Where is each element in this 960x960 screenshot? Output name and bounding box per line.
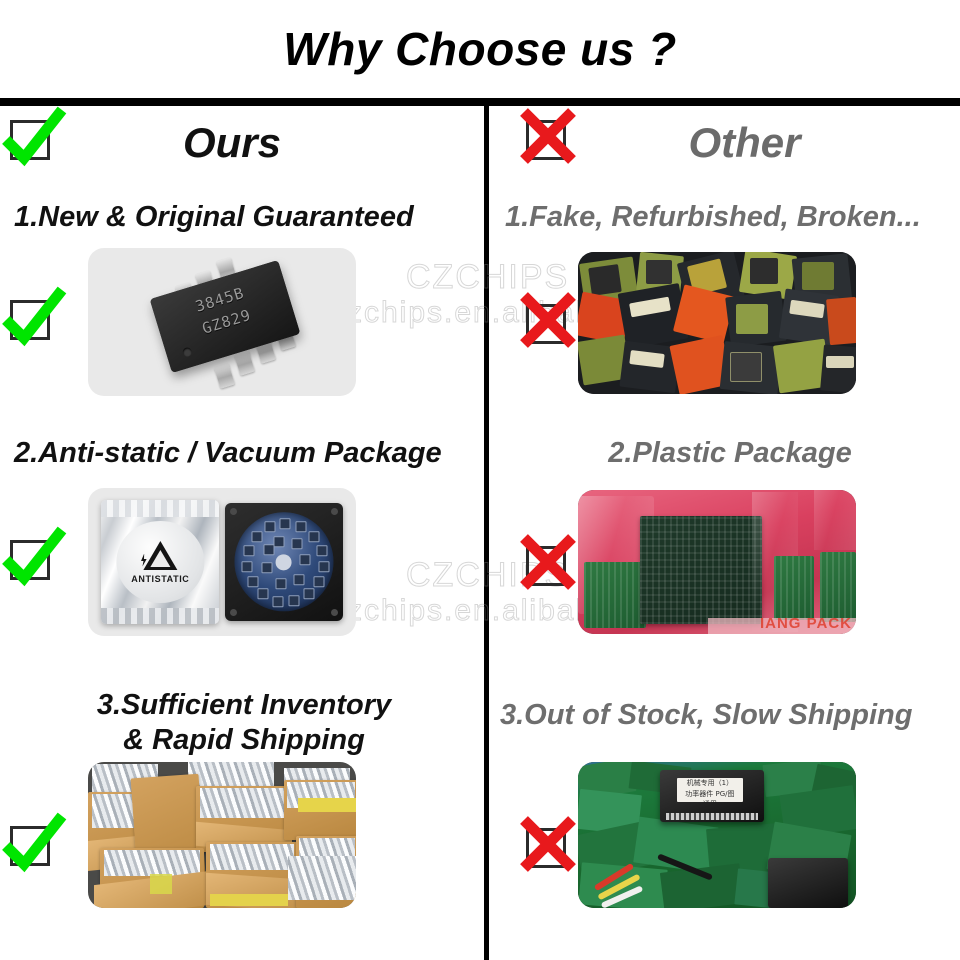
scrap-label [826, 356, 854, 368]
cross-icon [520, 112, 574, 166]
new-chip-photo: 3845B GZ829 [88, 248, 356, 396]
cross-glyph [514, 102, 584, 172]
warning-triangle [143, 540, 177, 569]
module-label-line3: 通用 [677, 799, 744, 802]
reel-cell [316, 545, 327, 556]
reel-cell [303, 588, 314, 599]
inventory-boxes-photo [88, 762, 356, 908]
scrap-chip-die [750, 258, 778, 284]
tray-screw [230, 508, 237, 515]
antistatic-bag: ANTISTATIC [101, 500, 219, 624]
scrap-chip-die [588, 264, 622, 296]
scrap-piece [820, 344, 856, 393]
pcb-board [584, 562, 646, 628]
chip-tray [225, 503, 343, 621]
pcb-board [774, 556, 814, 620]
chip-illustration: 3845B GZ829 [88, 248, 356, 396]
cross-icon [520, 296, 574, 350]
reel-hub [276, 554, 292, 570]
antistatic-bag-label: ANTISTATIC [131, 573, 189, 583]
reel-cell [262, 562, 273, 573]
reel-cell [318, 561, 329, 572]
why-choose-us-infographic: Why Choose us ? CZCHIPS czchips.en.aliba… [0, 0, 960, 960]
black-module-secondary [768, 858, 848, 908]
plastic-pack-overlay-text: IANG PACK [760, 615, 852, 632]
reel-cell [274, 536, 285, 547]
tray-screw [230, 609, 237, 616]
scrap-chip-die [730, 352, 762, 382]
module-label-line2: 功率器件 PG/图 [677, 789, 744, 800]
yellow-tape [210, 894, 288, 906]
feature-label-other-1: 1.Fake, Refurbished, Broken... [505, 202, 955, 233]
pcb-board-large [640, 516, 762, 624]
chip-pin [214, 363, 235, 388]
module-pins [666, 813, 758, 820]
yellow-tape [298, 798, 356, 812]
check-glyph [0, 102, 68, 172]
antistatic-bags [210, 844, 294, 870]
reel-cell [294, 574, 305, 585]
feature-label-other-2: 2.Plastic Package [505, 438, 955, 469]
feature-label-other-3: 3.Out of Stock, Slow Shipping [500, 700, 958, 731]
reel-cell [241, 561, 252, 572]
feature-label-ours-3-line2: & Rapid Shipping [14, 725, 474, 756]
reel-cell [258, 588, 269, 599]
module-label-line1: 机械专用（1） [677, 778, 744, 789]
antistatic-package-photo: ANTISTATIC [88, 488, 356, 636]
antistatic-bags [288, 856, 356, 900]
check-icon [4, 818, 58, 872]
scrap-chip-die [646, 260, 672, 284]
pcb-board [820, 552, 856, 622]
antistatic-bags [200, 788, 288, 818]
check-glyph [0, 522, 68, 592]
feature-label-ours-2: 2.Anti-static / Vacuum Package [14, 438, 474, 469]
reel-cell [313, 576, 324, 587]
reel-cell [247, 576, 258, 587]
scrap-chips-photo [578, 252, 856, 394]
reel-cell [289, 595, 300, 606]
column-divider [484, 106, 489, 960]
chip-pin [234, 350, 255, 375]
cross-glyph [514, 528, 584, 598]
module-label: 机械专用（1） 功率器件 PG/图 通用 [677, 778, 744, 802]
column-header-ours: Ours [0, 112, 484, 174]
reel-cell [300, 554, 311, 565]
antistatic-bags [104, 850, 200, 876]
out-of-stock-scrap-photo: 机械专用（1） 功率器件 PG/图 通用 [578, 762, 856, 908]
reel-cell [280, 518, 291, 529]
cross-icon [520, 538, 574, 592]
check-glyph [0, 282, 68, 352]
reel-cell [252, 531, 263, 542]
scrap-chip-die [736, 304, 768, 334]
reel-cell [265, 521, 276, 532]
tray-screw [331, 508, 338, 515]
scrap-chip-die [802, 262, 834, 290]
header-divider [0, 98, 960, 106]
feature-label-ours-3: 3.Sufficient Inventory & Rapid Shipping [14, 690, 474, 757]
yellow-marker [150, 874, 172, 894]
check-glyph [0, 808, 68, 878]
reel-cell [264, 544, 275, 555]
feature-label-ours-1: 1.New & Original Guaranteed [14, 202, 474, 233]
black-module: 机械专用（1） 功率器件 PG/图 通用 [660, 770, 764, 822]
reel-cell [276, 578, 287, 589]
plastic-package-photo: IANG PACK [578, 490, 856, 634]
cross-glyph [514, 286, 584, 356]
reel-cell [243, 545, 254, 556]
tray-screw [331, 609, 338, 616]
scrap-piece [826, 297, 856, 345]
check-icon [4, 532, 58, 586]
cross-icon [520, 820, 574, 874]
feature-label-ours-3-line1: 3.Sufficient Inventory [14, 690, 474, 721]
cross-glyph [514, 810, 584, 880]
reel-cell [308, 531, 319, 542]
page-title: Why Choose us ? [0, 22, 960, 76]
plastic-sheen [814, 490, 856, 550]
reel-cell [292, 538, 303, 549]
column-header-ours-label: Ours [0, 112, 484, 174]
reel-cell [273, 596, 284, 607]
check-icon [4, 292, 58, 346]
esd-warning-icon [143, 540, 177, 569]
check-icon [4, 112, 58, 166]
reel-cell [296, 521, 307, 532]
antistatic-disc: ANTISTATIC [117, 521, 204, 603]
chip-reel [234, 512, 333, 611]
chip-body: 3845B GZ829 [149, 260, 300, 373]
